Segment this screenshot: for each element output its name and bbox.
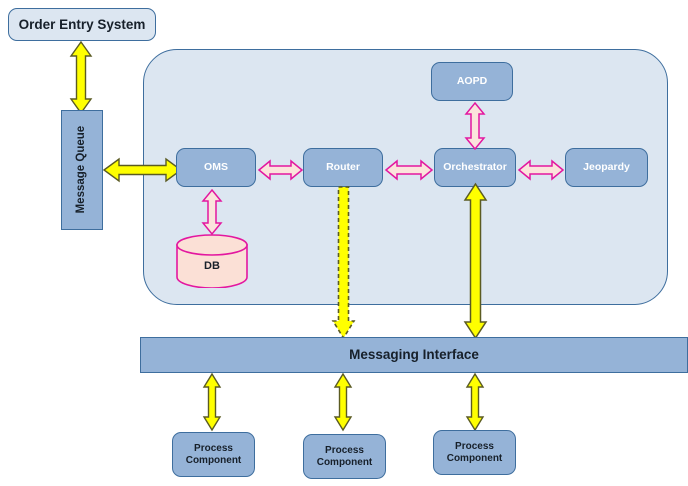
process-component-label-line2: Component: [317, 457, 373, 469]
messaging-interface-to-process-component-2-arrow: [332, 373, 354, 431]
message-queue-to-oms-arrow: [103, 157, 182, 183]
router-box[interactable]: Router: [303, 148, 383, 187]
process-component-box-1[interactable]: Process Component: [172, 432, 255, 477]
orchestrator-label: Orchestrator: [443, 161, 507, 173]
architecture-diagram: Order Entry System Message Queue OMS Rou…: [0, 0, 688, 486]
order-entry-system-label: Order Entry System: [19, 17, 146, 33]
aopd-label: AOPD: [457, 75, 487, 87]
router-to-messaging-interface-arrow: [331, 186, 356, 340]
oms-to-router-arrow: [258, 159, 303, 181]
message-queue-label: Message Queue: [75, 126, 88, 214]
orchestrator-to-jeopardy-arrow: [518, 159, 564, 181]
aopd-box[interactable]: AOPD: [431, 62, 513, 101]
message-queue-box[interactable]: Message Queue: [61, 110, 103, 230]
orchestrator-to-aopd-arrow: [464, 102, 486, 150]
jeopardy-box[interactable]: Jeopardy: [565, 148, 648, 187]
router-label: Router: [326, 161, 360, 173]
process-component-label-line2: Component: [447, 453, 503, 465]
orchestrator-box[interactable]: Orchestrator: [434, 148, 516, 187]
messaging-interface-bar[interactable]: Messaging Interface: [140, 337, 688, 373]
process-component-label-line1: Process: [194, 443, 233, 455]
process-component-box-2[interactable]: Process Component: [303, 434, 386, 479]
jeopardy-label: Jeopardy: [583, 161, 630, 173]
order-entry-system-box[interactable]: Order Entry System: [8, 8, 156, 41]
db-cylinder[interactable]: DB: [175, 234, 249, 288]
messaging-interface-to-process-component-1-arrow: [201, 373, 223, 431]
orchestrator-to-messaging-interface-arrow: [463, 183, 488, 340]
messaging-interface-to-process-component-3-arrow: [464, 373, 486, 431]
router-to-orchestrator-arrow: [385, 159, 433, 181]
process-component-label-line1: Process: [455, 441, 494, 453]
oms-label: OMS: [204, 161, 228, 173]
messaging-interface-label: Messaging Interface: [349, 347, 479, 363]
oms-to-db-arrow: [201, 189, 223, 235]
oms-box[interactable]: OMS: [176, 148, 256, 187]
process-component-label-line2: Component: [186, 455, 242, 467]
process-component-box-3[interactable]: Process Component: [433, 430, 516, 475]
process-component-label-line1: Process: [325, 445, 364, 457]
order-entry-to-message-queue-arrow: [69, 41, 93, 114]
